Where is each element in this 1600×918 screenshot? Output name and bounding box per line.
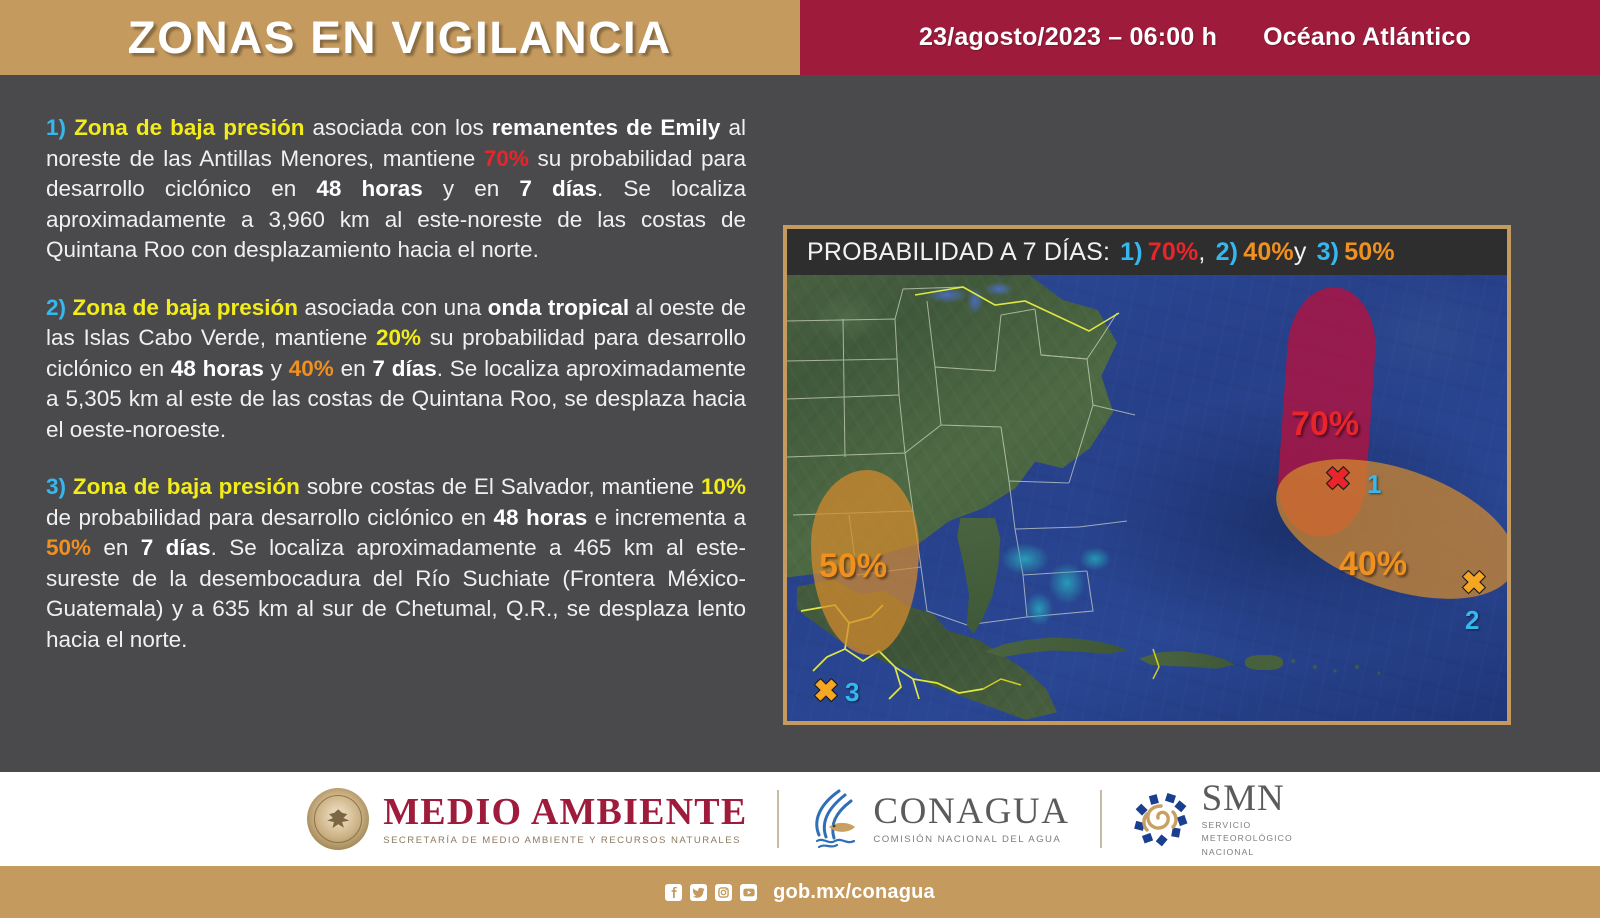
cone-label-zone-2: 40% <box>1339 545 1407 584</box>
zone-2-text-1: asociada con una <box>298 295 488 320</box>
zone-3-prob-48h: 10% <box>701 474 746 499</box>
zone-3-text-2: de probabilidad para desarrollo ciclónic… <box>46 505 494 530</box>
marker-x-zone-3[interactable]: ✖ <box>811 677 841 707</box>
header-timestamp: 23/agosto/2023 – 06:00 h <box>919 23 1217 52</box>
header-basin-name: Océano Atlántico <box>1263 23 1471 52</box>
medio-ambiente-title: MEDIO AMBIENTE <box>383 792 747 832</box>
smn-subtitle-1: SERVICIO <box>1202 820 1293 831</box>
logo-smn: SMN SERVICIO METEOROLÓGICO NACIONAL <box>1132 781 1293 858</box>
cone-label-zone-3: 50% <box>819 547 887 586</box>
header: ZONAS EN VIGILANCIA 23/agosto/2023 – 06:… <box>0 0 1600 75</box>
legend-value-1: 70% <box>1148 238 1199 267</box>
zone-1-prob-48h: 70% <box>484 146 529 171</box>
zone-1-bold-3: 7 días <box>519 176 597 201</box>
x-glyph-2: ✖ <box>1459 569 1489 599</box>
zone-1-bold-1: remanentes de Emily <box>492 115 721 140</box>
zone-3-prob-7d: 50% <box>46 535 91 560</box>
legend-sep-2: y <box>1294 238 1307 267</box>
zone-3-text-4: en <box>91 535 141 560</box>
content-area: 1) Zona de baja presión asociada con los… <box>0 75 1600 772</box>
legend-label: PROBABILIDAD A 7 DÍAS: <box>807 238 1110 267</box>
header-right-band: 23/agosto/2023 – 06:00 h Océano Atlántic… <box>800 0 1600 75</box>
zone-2-text-5: en <box>334 356 373 381</box>
mexican-coat-of-arms-icon <box>307 788 369 850</box>
zone-3-lead: Zona de baja presión <box>73 474 300 499</box>
zone-3-text-3: e incrementa a <box>587 505 746 530</box>
smn-subtitle-2: METEOROLÓGICO <box>1202 833 1293 844</box>
social-bar: gob.mx/conagua <box>0 866 1600 918</box>
conagua-title: CONAGUA <box>873 793 1069 831</box>
zone-2-prob-48h: 20% <box>376 325 421 350</box>
page-title: ZONAS EN VIGILANCIA <box>128 12 672 64</box>
zone-3-number: 3) <box>46 474 66 499</box>
logo-conagua: CONAGUA COMISIÓN NACIONAL DEL AGUA <box>809 789 1069 849</box>
conagua-water-icon <box>809 789 861 849</box>
marker-x-zone-2[interactable]: ✖ <box>1459 569 1489 599</box>
logo-divider-1 <box>777 790 779 848</box>
zone-2-text-4: y <box>264 356 289 381</box>
zone-2-bold-1: onda tropical <box>488 295 629 320</box>
zone-paragraph-3: 3) Zona de baja presión sobre costas de … <box>46 472 746 655</box>
marker-label-zone-1: 1 <box>1367 469 1381 500</box>
zone-2-number: 2) <box>46 295 66 320</box>
marker-x-zone-1[interactable]: ✖ <box>1323 465 1353 495</box>
forecast-map[interactable]: PROBABILIDAD A 7 DÍAS: 1) 70% , 2) 40% y… <box>783 225 1511 725</box>
conagua-subtitle: COMISIÓN NACIONAL DEL AGUA <box>873 834 1069 845</box>
zone-1-text-4: y en <box>423 176 520 201</box>
zone-1-text-1: asociada con los <box>304 115 491 140</box>
logo-divider-2 <box>1100 790 1102 848</box>
instagram-icon[interactable] <box>715 884 732 901</box>
zone-descriptions: 1) Zona de baja presión asociada con los… <box>46 113 746 655</box>
marker-label-zone-3: 3 <box>845 677 859 708</box>
legend-num-1: 1) <box>1120 238 1143 267</box>
zone-1-bold-2: 48 horas <box>316 176 422 201</box>
zone-2-bold-3: 7 días <box>372 356 436 381</box>
website-url[interactable]: gob.mx/conagua <box>773 881 935 904</box>
legend-value-3: 50% <box>1344 238 1395 267</box>
zone-paragraph-2: 2) Zona de baja presión asociada con una… <box>46 293 746 446</box>
twitter-icon[interactable] <box>690 884 707 901</box>
legend-num-2: 2) <box>1216 238 1239 267</box>
marker-label-zone-2: 2 <box>1465 605 1479 636</box>
infographic-root: ZONAS EN VIGILANCIA 23/agosto/2023 – 06:… <box>0 0 1600 918</box>
smn-title: SMN <box>1202 781 1293 817</box>
youtube-icon[interactable] <box>740 884 757 901</box>
map-legend-bar: PROBABILIDAD A 7 DÍAS: 1) 70% , 2) 40% y… <box>787 229 1507 275</box>
zone-3-bold-2: 7 días <box>141 535 211 560</box>
zone-paragraph-1: 1) Zona de baja presión asociada con los… <box>46 113 746 266</box>
cone-label-zone-1: 70% <box>1291 405 1359 444</box>
zone-2-bold-2: 48 horas <box>171 356 264 381</box>
zone-1-lead: Zona de baja presión <box>74 115 304 140</box>
legend-sep-1: , <box>1198 238 1205 267</box>
map-canvas: 70% 40% 50% ✖ 1 ✖ 2 ✖ 3 <box>787 275 1507 721</box>
smn-subtitle-3: NACIONAL <box>1202 847 1293 858</box>
medio-ambiente-subtitle: SECRETARÍA DE MEDIO AMBIENTE Y RECURSOS … <box>383 835 747 846</box>
legend-value-2: 40% <box>1243 238 1294 267</box>
header-left-band: ZONAS EN VIGILANCIA <box>0 0 800 75</box>
facebook-icon[interactable] <box>665 884 682 901</box>
smn-spiral-icon <box>1132 790 1190 848</box>
zone-1-number: 1) <box>46 115 66 140</box>
legend-num-3: 3) <box>1317 238 1340 267</box>
zone-3-bold-1: 48 horas <box>494 505 588 530</box>
footer-logo-bar: MEDIO AMBIENTE SECRETARÍA DE MEDIO AMBIE… <box>0 772 1600 866</box>
zone-2-prob-7d: 40% <box>289 356 334 381</box>
x-glyph-3: ✖ <box>811 677 841 707</box>
logo-medio-ambiente: MEDIO AMBIENTE SECRETARÍA DE MEDIO AMBIE… <box>307 788 747 850</box>
x-glyph-1: ✖ <box>1323 465 1353 495</box>
zone-3-text-1: sobre costas de El Salvador, mantiene <box>300 474 701 499</box>
zone-2-lead: Zona de baja presión <box>72 295 298 320</box>
